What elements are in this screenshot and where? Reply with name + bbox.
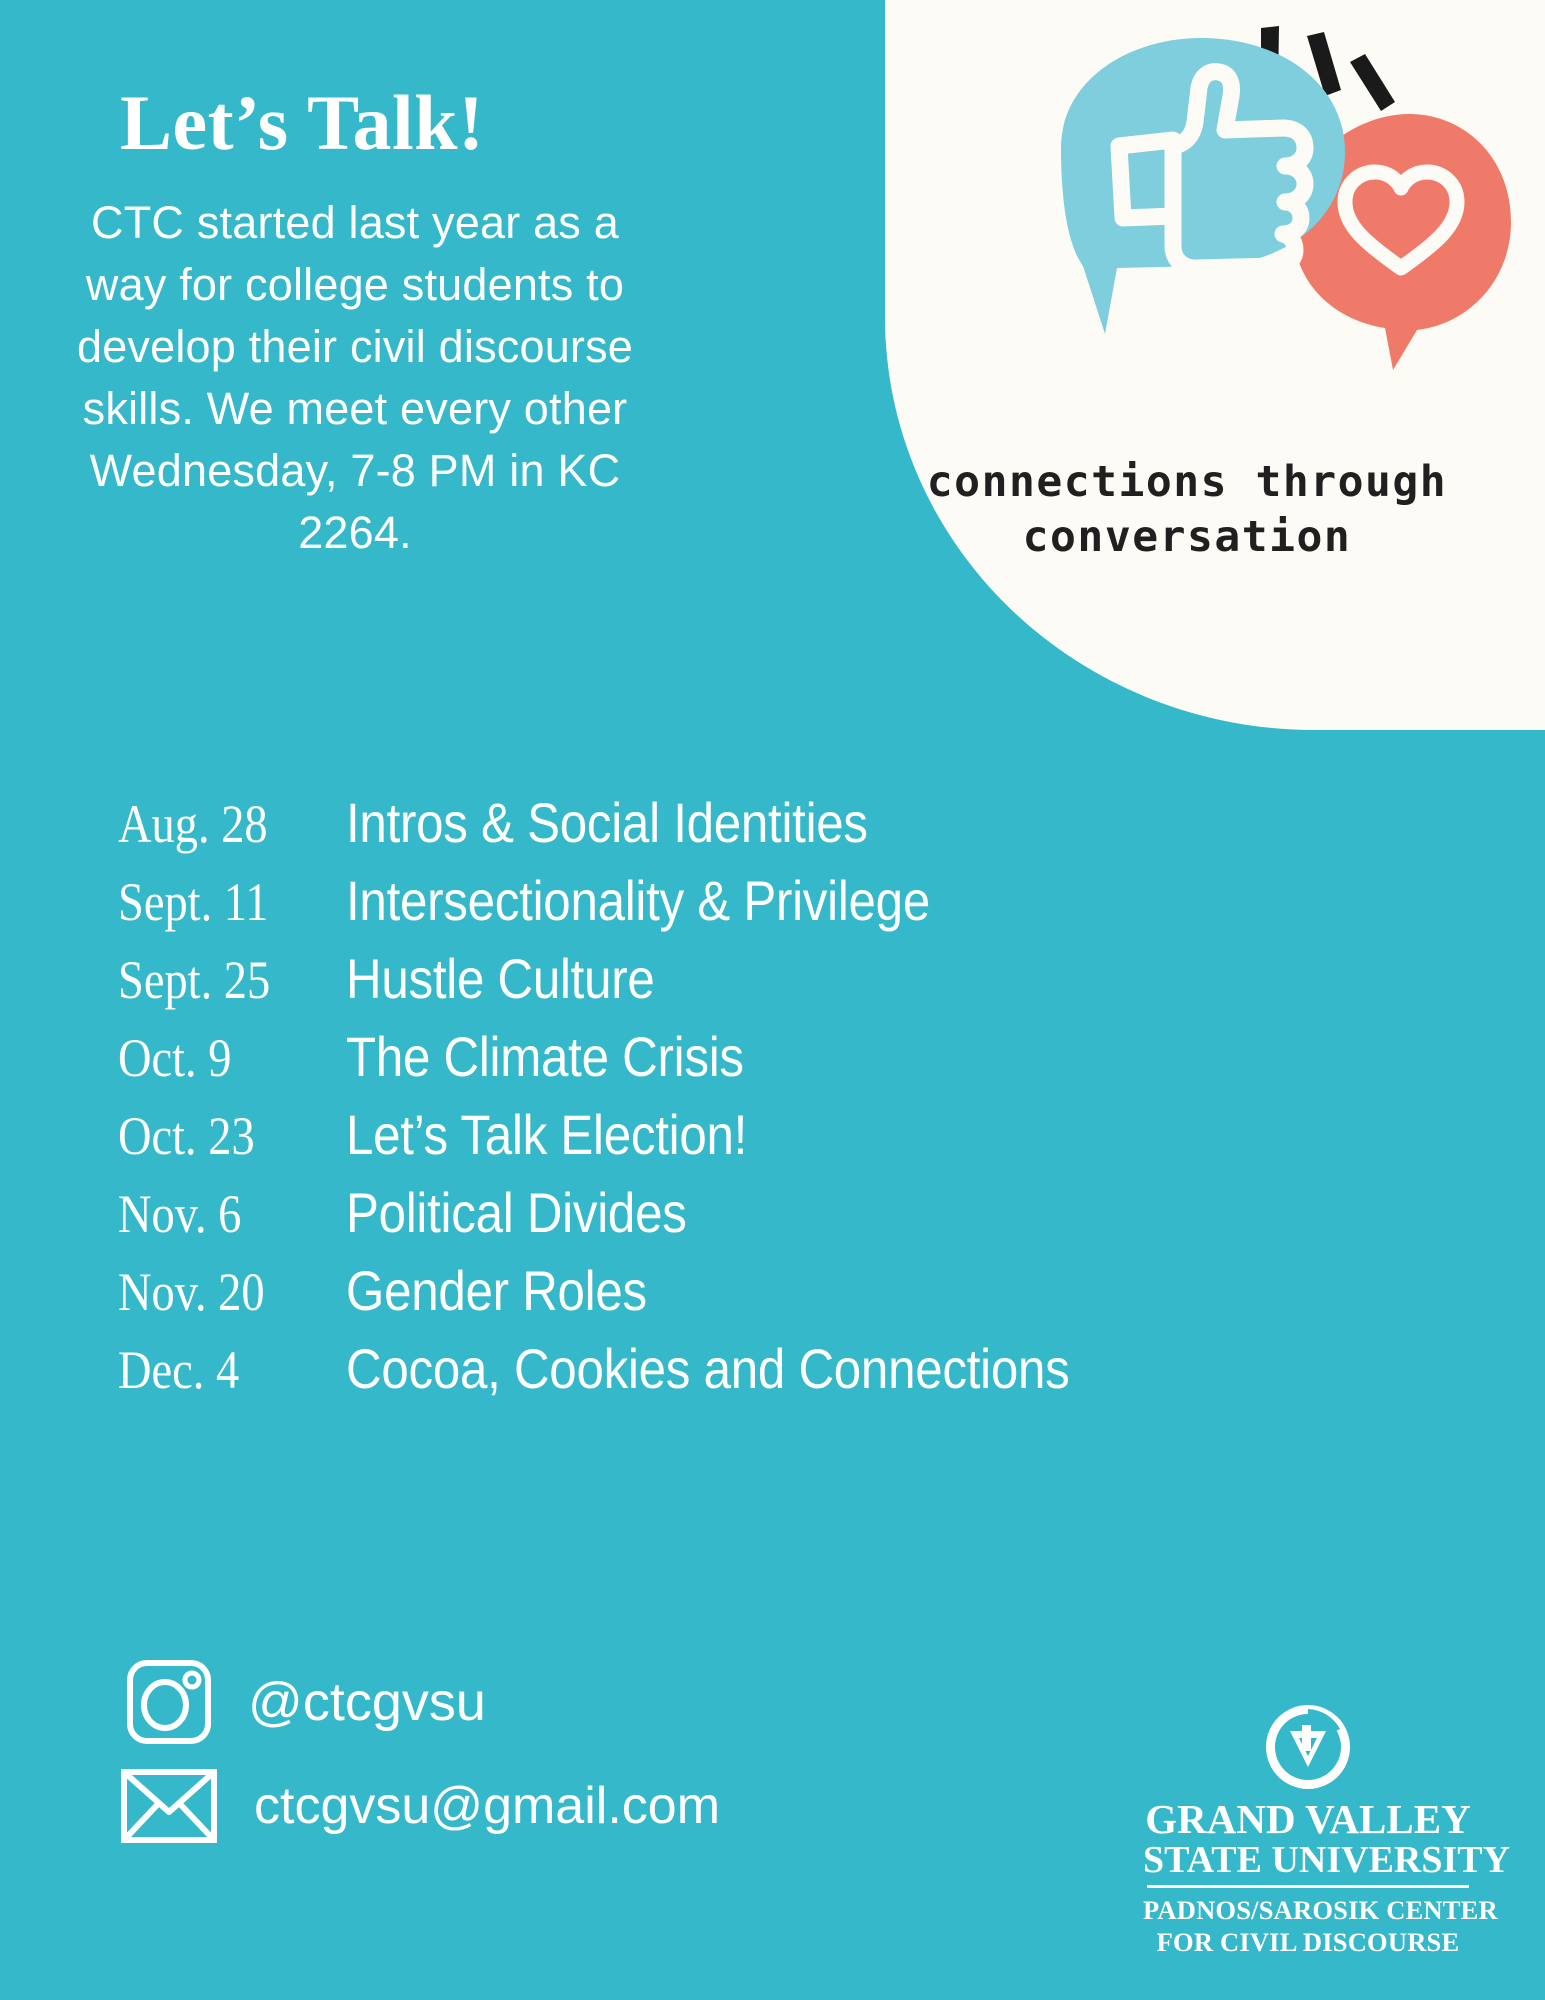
intro-paragraph: CTC started last year as a way for colle…: [70, 192, 640, 565]
gvsu-line-4: FOR CIVIL DISCOURSE: [1143, 1927, 1473, 1958]
schedule-row: Sept. 25 Hustle Culture: [118, 946, 1438, 1024]
schedule-row: Nov. 20 Gender Roles: [118, 1258, 1438, 1336]
ctc-logo-artwork: [1045, 18, 1515, 448]
schedule-row: Oct. 9 The Climate Crisis: [118, 1024, 1438, 1102]
schedule-date: Sept. 25: [118, 949, 314, 1011]
schedule-row: Aug. 28 Intros & Social Identities: [118, 790, 1438, 868]
tagline-line-1: connections through: [927, 457, 1447, 507]
ctc-tagline: connections through conversation: [867, 455, 1507, 565]
schedule-date: Aug. 28: [118, 793, 314, 855]
schedule-topic: Let’s Talk Election!: [346, 1102, 747, 1167]
schedule-row: Sept. 11 Intersectionality & Privilege: [118, 868, 1438, 946]
instagram-handle: @ctcgvsu: [218, 1671, 486, 1733]
schedule-topic: Intros & Social Identities: [346, 790, 868, 855]
schedule-date: Oct. 23: [118, 1105, 314, 1167]
page-title: Let’s Talk!: [120, 78, 485, 168]
schedule-date: Oct. 9: [118, 1027, 314, 1089]
contact-row-email[interactable]: ctcgvsu@gmail.com: [120, 1754, 720, 1858]
schedule-topic: Intersectionality & Privilege: [346, 868, 930, 933]
schedule-date: Nov. 20: [118, 1261, 314, 1323]
envelope-icon: [120, 1766, 218, 1846]
schedule-topic: The Climate Crisis: [346, 1024, 744, 1089]
schedule-topic: Cocoa, Cookies and Connections: [346, 1336, 1070, 1401]
gvsu-line-3: PADNOS/SAROSIK CENTER: [1143, 1895, 1473, 1926]
schedule-list: Aug. 28 Intros & Social Identities Sept.…: [118, 790, 1438, 1414]
schedule-row: Dec. 4 Cocoa, Cookies and Connections: [118, 1336, 1438, 1414]
schedule-row: Oct. 23 Let’s Talk Election!: [118, 1102, 1438, 1180]
instagram-icon: [120, 1658, 218, 1746]
contact-block: @ctcgvsu ctcgvsu@gmail.com: [120, 1650, 720, 1858]
gvsu-divider: [1147, 1885, 1469, 1888]
schedule-date: Sept. 11: [118, 871, 314, 933]
schedule-topic: Hustle Culture: [346, 946, 655, 1011]
gvsu-line-2: STATE UNIVERSITY: [1143, 1841, 1473, 1881]
contact-row-instagram[interactable]: @ctcgvsu: [120, 1650, 720, 1754]
gvsu-line-1: GRAND VALLEY: [1143, 1799, 1473, 1841]
email-address: ctcgvsu@gmail.com: [218, 1776, 720, 1836]
tagline-line-2: conversation: [867, 510, 1507, 565]
schedule-topic: Political Divides: [346, 1180, 687, 1245]
flyer-page: connections through conversation Let’s T…: [0, 0, 1545, 2000]
schedule-row: Nov. 6 Political Divides: [118, 1180, 1438, 1258]
gvsu-laker-mark-icon: [1143, 1701, 1473, 1793]
schedule-topic: Gender Roles: [346, 1258, 647, 1323]
schedule-date: Nov. 6: [118, 1183, 314, 1245]
schedule-date: Dec. 4: [118, 1339, 314, 1401]
gvsu-logo: GRAND VALLEY STATE UNIVERSITY PADNOS/SAR…: [1143, 1701, 1473, 1958]
